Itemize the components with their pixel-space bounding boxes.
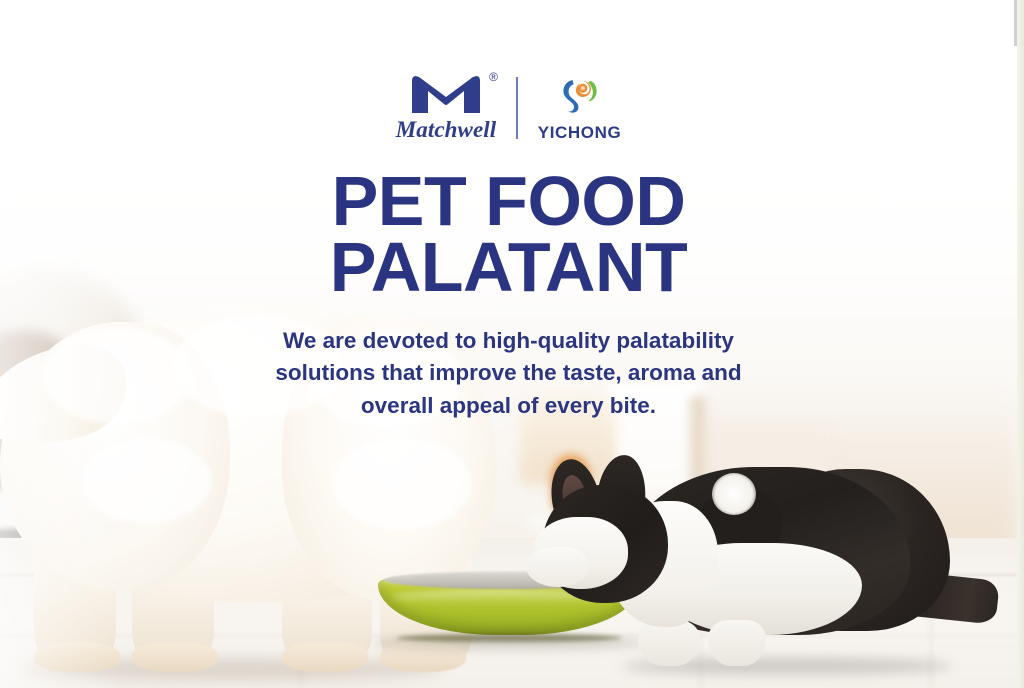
cat-white-spot [712, 473, 756, 515]
headline-line-2: PALATANT [330, 235, 688, 301]
yichong-wordmark: YICHONG [538, 123, 622, 143]
content-overlay: ® Matchwell YICHONG PET [0, 0, 1017, 422]
subhead-line-3: overall appeal of every bite. [275, 390, 741, 423]
matchwell-m-monogram-icon: ® [410, 73, 482, 113]
scrollbar-thumb[interactable] [1014, 0, 1017, 46]
logo-lockup: ® Matchwell YICHONG [396, 72, 622, 143]
dog-fur-tuft [332, 438, 472, 530]
subhead-line-1: We are devoted to high-quality palatabil… [275, 325, 741, 358]
registered-trademark-icon: ® [489, 71, 498, 83]
yichong-swirl-leaf-logo-icon [557, 72, 603, 118]
dog-fur-tuft [82, 438, 212, 524]
dog-paw [282, 642, 368, 672]
yichong-logo[interactable]: YICHONG [538, 72, 622, 143]
page-subtitle: We are devoted to high-quality palatabil… [275, 325, 741, 423]
page-title: PET FOOD PALATANT [330, 169, 688, 301]
cat-hind-paw [708, 620, 766, 666]
dog-paw [132, 642, 218, 672]
page-margin-strip [1017, 0, 1024, 688]
subhead-line-2: solutions that improve the taste, aroma … [275, 357, 741, 390]
logo-divider-icon [516, 77, 518, 139]
cat-muzzle [526, 547, 588, 587]
tuxedo-cat [512, 455, 982, 670]
matchwell-logo[interactable]: ® Matchwell [396, 73, 497, 143]
dog-paw [34, 642, 120, 672]
matchwell-wordmark: Matchwell [396, 117, 497, 143]
banner-page: ® Matchwell YICHONG PET [0, 0, 1024, 688]
headline-line-1: PET FOOD [330, 169, 688, 235]
